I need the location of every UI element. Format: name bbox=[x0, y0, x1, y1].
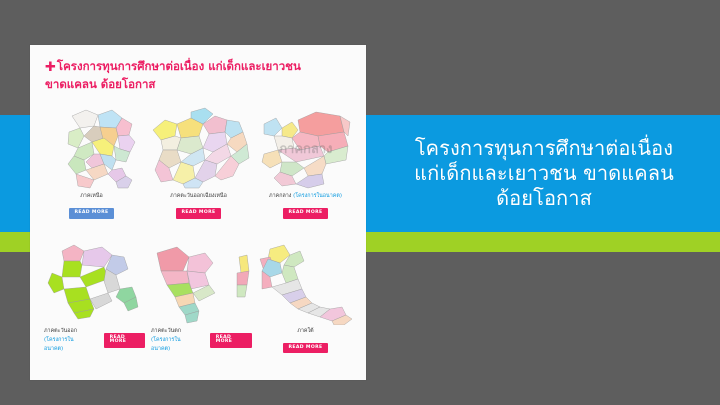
region-button-row-north: READ MORE bbox=[38, 208, 145, 219]
region-label-east: ภาคตะวันออก bbox=[44, 328, 77, 334]
panel-title: ✚โครงการทุนการศึกษาต่อเนื่อง แก่เด็กและเ… bbox=[45, 58, 355, 93]
map-east[interactable] bbox=[38, 235, 145, 327]
region-button-row-south: READ MORE bbox=[252, 343, 359, 354]
region-card-west[interactable]: ภาคตะวันตก (โครงการใน อนาคต) READ MORE bbox=[145, 235, 252, 354]
region-label-northeast: ภาคตะวันออกเฉียงเหนือ bbox=[145, 192, 252, 208]
read-more-button-west[interactable]: READ MORE bbox=[210, 333, 252, 348]
map-south[interactable] bbox=[252, 235, 359, 327]
read-more-button-south[interactable]: READ MORE bbox=[283, 343, 329, 354]
region-caption-east: ภาคตะวันออก (โครงการใน อนาคต) READ MORE bbox=[38, 327, 145, 354]
map-row-bottom: ภาคตะวันออก (โครงการใน อนาคต) READ MORE bbox=[38, 235, 360, 354]
region-card-north[interactable]: ภาคเหนือ READ MORE bbox=[38, 100, 145, 219]
region-map-grid: ภาคเหนือ READ MORE bbox=[38, 100, 360, 354]
read-more-button-north[interactable]: READ MORE bbox=[69, 208, 115, 219]
region-card-northeast[interactable]: ภาคตะวันออกเฉียงเหนือ READ MORE bbox=[145, 100, 252, 219]
region-label-west: ภาคตะวันตก bbox=[151, 328, 181, 334]
read-more-button-east[interactable]: READ MORE bbox=[104, 333, 145, 348]
region-card-central[interactable]: ภาคกลาง ภาคกลาง (โครงการในอนาคต) READ MO… bbox=[252, 100, 359, 219]
region-label-north: ภาคเหนือ bbox=[38, 192, 145, 208]
region-future-note-east: (โครงการใน bbox=[44, 337, 74, 343]
headline-line-1: โครงการทุนการศึกษาต่อเนื่อง bbox=[370, 136, 718, 161]
region-future-note-west-2: อนาคต) bbox=[151, 346, 170, 352]
read-more-button-central[interactable]: READ MORE bbox=[283, 208, 329, 219]
map-west[interactable] bbox=[145, 235, 252, 327]
read-more-button-northeast[interactable]: READ MORE bbox=[176, 208, 222, 219]
panel-title-line-2: ขาดแคลน ด้อยโอกาส bbox=[45, 77, 155, 91]
region-future-note-east-2: อนาคต) bbox=[44, 346, 63, 352]
panel-title-line-1: โครงการทุนการศึกษาต่อเนื่อง แก่เด็กและเย… bbox=[57, 59, 301, 73]
headline-line-2: แก่เด็กและเยาวชน ขาดแคลน bbox=[370, 161, 718, 186]
region-label-south: ภาคใต้ bbox=[252, 327, 359, 343]
region-future-note-central: (โครงการในอนาคต) bbox=[293, 193, 342, 199]
region-label-central: ภาคกลาง (โครงการในอนาคต) bbox=[252, 192, 359, 208]
plus-icon: ✚ bbox=[45, 59, 56, 76]
content-panel: ✚โครงการทุนการศึกษาต่อเนื่อง แก่เด็กและเ… bbox=[30, 45, 366, 380]
map-northeast[interactable] bbox=[145, 100, 252, 192]
region-card-south[interactable]: ภาคใต้ READ MORE bbox=[252, 235, 359, 354]
region-button-row-northeast: READ MORE bbox=[145, 208, 252, 219]
headline: โครงการทุนการศึกษาต่อเนื่อง แก่เด็กและเย… bbox=[370, 136, 718, 211]
slide-canvas: โครงการทุนการศึกษาต่อเนื่อง แก่เด็กและเย… bbox=[0, 0, 720, 405]
region-caption-west: ภาคตะวันตก (โครงการใน อนาคต) READ MORE bbox=[145, 327, 252, 354]
region-card-east[interactable]: ภาคตะวันออก (โครงการใน อนาคต) READ MORE bbox=[38, 235, 145, 354]
map-row-top: ภาคเหนือ READ MORE bbox=[38, 100, 360, 219]
map-north[interactable] bbox=[38, 100, 145, 192]
region-button-row-central: READ MORE bbox=[252, 208, 359, 219]
region-future-note-west: (โครงการใน bbox=[151, 337, 181, 343]
region-label-central-text: ภาคกลาง bbox=[269, 193, 291, 199]
map-central[interactable] bbox=[252, 100, 359, 192]
headline-line-3: ด้อยโอกาส bbox=[370, 186, 718, 211]
